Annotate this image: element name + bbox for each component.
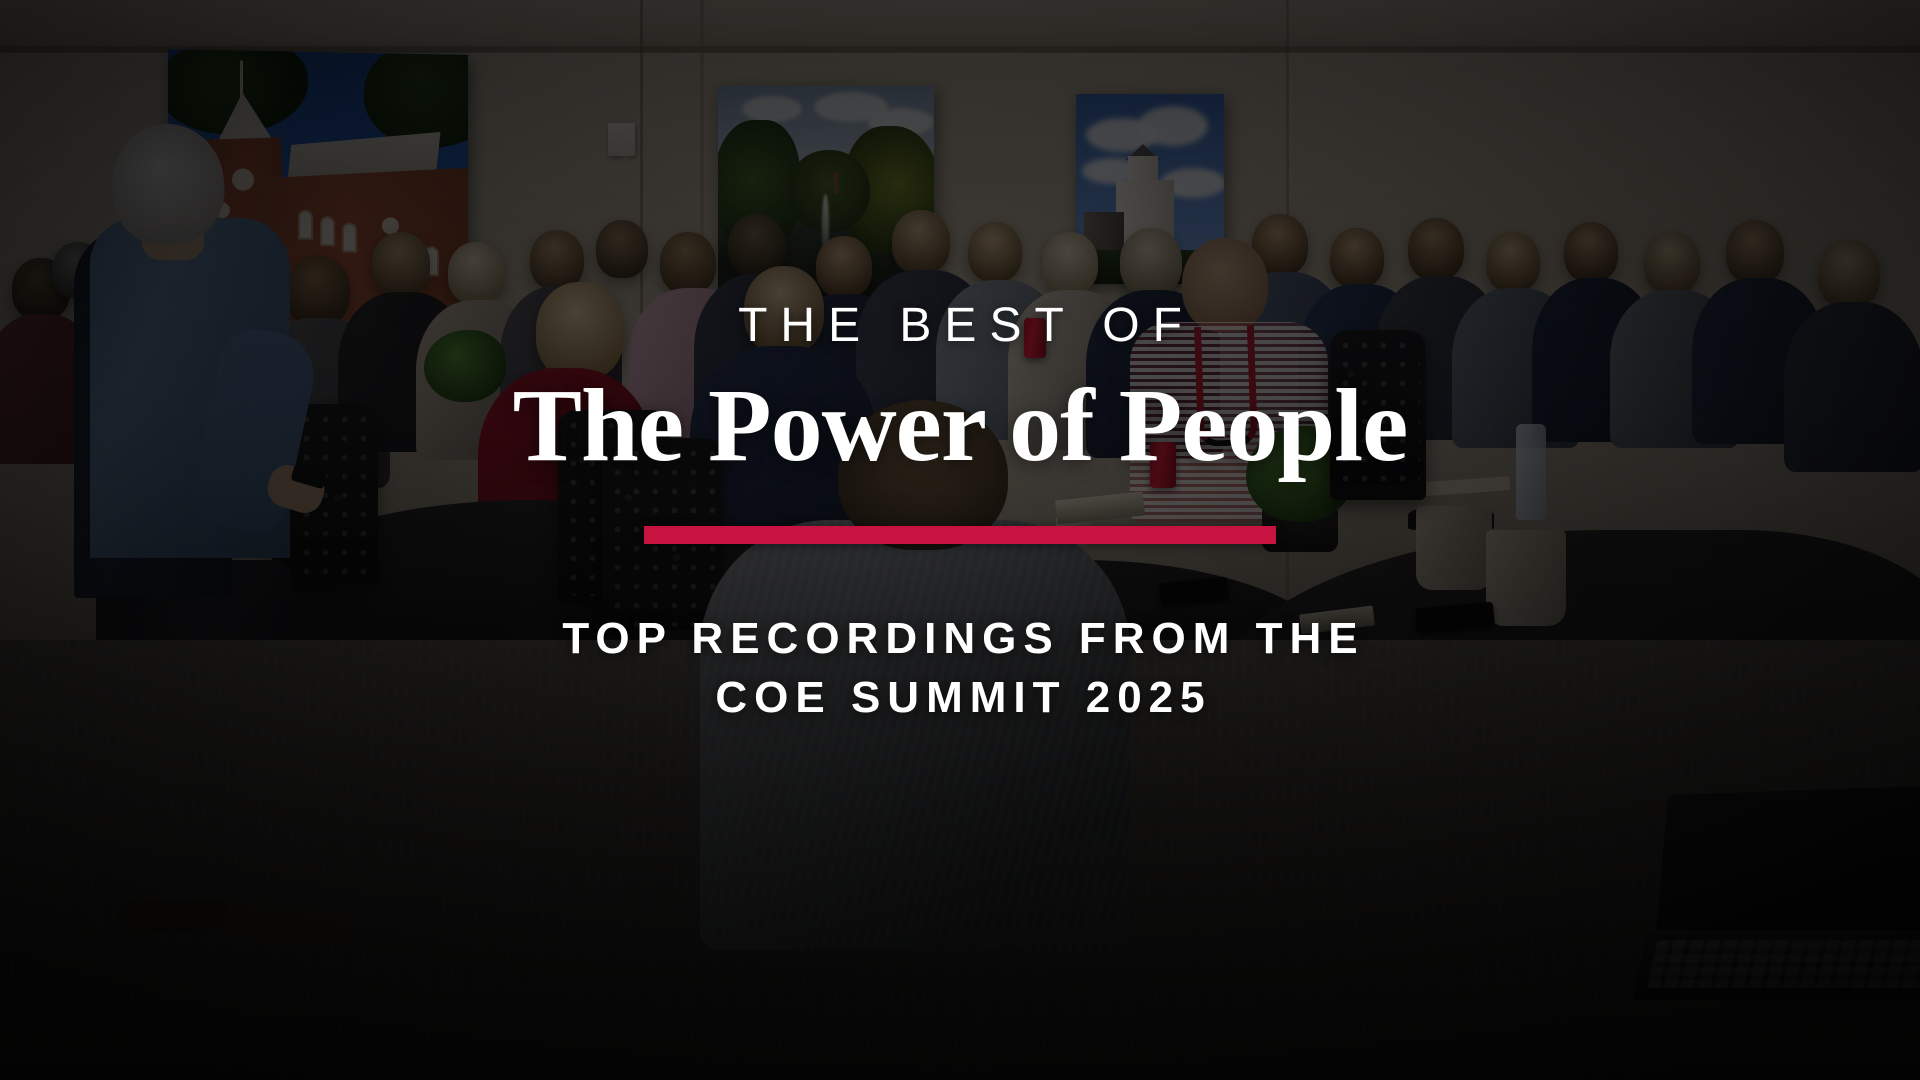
hero-banner: THE BEST OF The Power of People TOP RECO… [0, 0, 1920, 1080]
subheadline-line-1: TOP RECORDINGS FROM THE [555, 610, 1364, 669]
subheadline: TOP RECORDINGS FROM THE COE SUMMIT 2025 [555, 610, 1364, 727]
eyebrow-text: THE BEST OF [725, 302, 1195, 350]
red-accent-rule [644, 526, 1276, 544]
headline-title: The Power of People [513, 374, 1408, 478]
text-overlay: THE BEST OF The Power of People TOP RECO… [0, 0, 1920, 1080]
subheadline-line-2: COE SUMMIT 2025 [555, 669, 1364, 728]
